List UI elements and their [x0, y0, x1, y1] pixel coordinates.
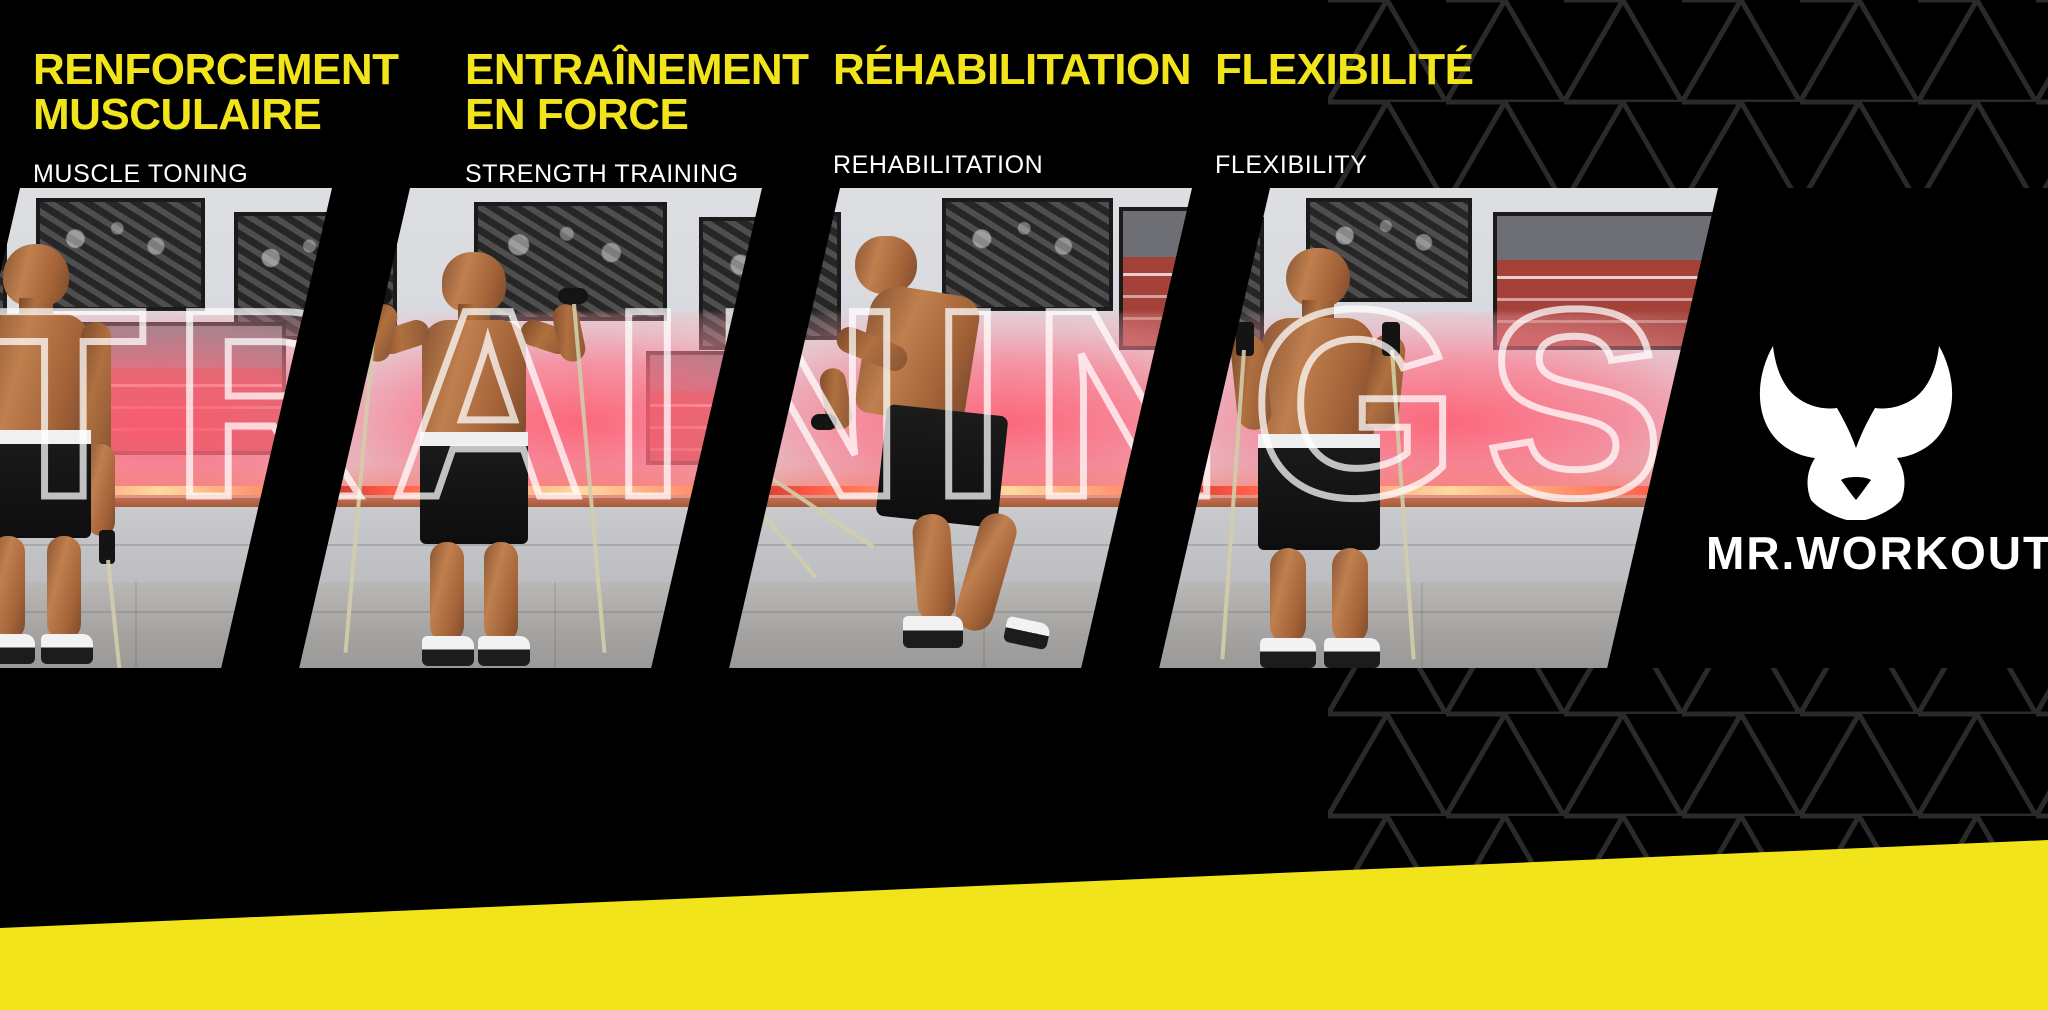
brand-name: MR.WORKOUT: [1706, 526, 2006, 580]
column-title-fr: FLEXIBILITÉ: [1215, 48, 1474, 93]
column-subtitle-en: REHABILITATION: [833, 151, 1191, 180]
bottom-yellow-band: [0, 810, 2048, 1010]
header: RENFORCEMENT MUSCULAIRE MUSCLE TONING EN…: [0, 0, 2048, 250]
athlete-figure: [819, 228, 1119, 668]
column-heading-flexibility: FLEXIBILITÉ FLEXIBILITY: [1215, 48, 1474, 180]
column-subtitle-en: MUSCLE TONING: [33, 160, 399, 189]
column-subtitle-en: FLEXIBILITY: [1215, 151, 1474, 180]
brand-logo[interactable]: MR.WORKOUT: [1706, 330, 2006, 580]
bull-horns-icon: [1741, 330, 1971, 520]
column-heading-strength-training: ENTRAÎNEMENT EN FORCE STRENGTH TRAINING: [465, 48, 809, 189]
column-heading-muscle-toning: RENFORCEMENT MUSCULAIRE MUSCLE TONING: [33, 48, 399, 189]
column-title-fr: RENFORCEMENT MUSCULAIRE: [33, 48, 399, 138]
column-title-fr: RÉHABILITATION: [833, 48, 1191, 93]
column-heading-rehabilitation: RÉHABILITATION REHABILITATION: [833, 48, 1191, 180]
banner-root: TRAININGS RENFORCEMENT MUSCULAIRE MUSCLE…: [0, 0, 2048, 1010]
column-title-fr: ENTRAÎNEMENT EN FORCE: [465, 48, 809, 138]
athlete-figure: [0, 238, 141, 668]
column-subtitle-en: STRENGTH TRAINING: [465, 160, 809, 189]
